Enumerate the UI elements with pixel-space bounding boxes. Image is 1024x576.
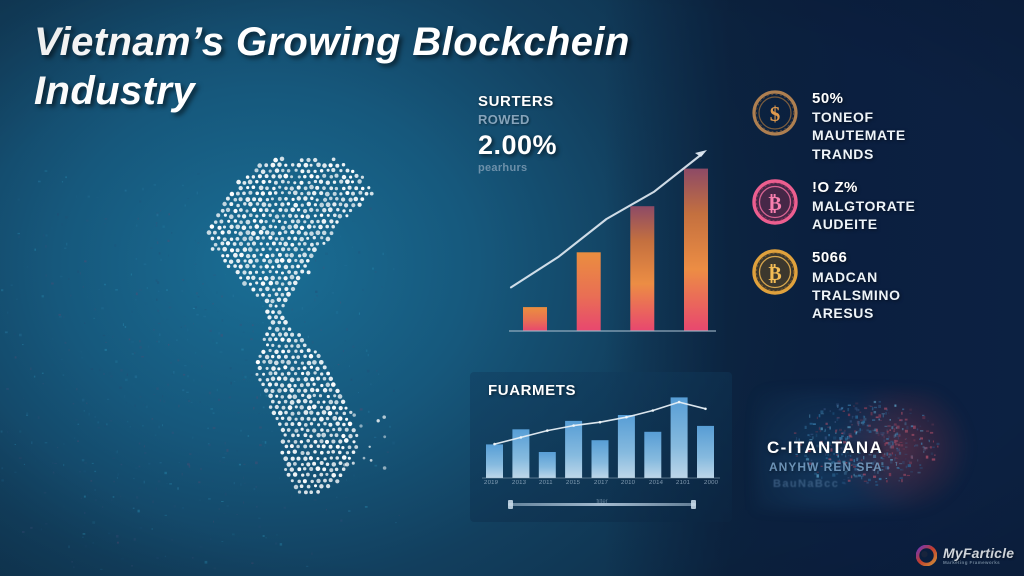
slider-handle-right[interactable]: [691, 500, 696, 509]
svg-text:₿: ₿: [768, 263, 781, 285]
logo-name: MyFarticle: [943, 546, 1014, 560]
stat-label-line: AUDEITE: [812, 215, 915, 233]
stat-text: 50% TONEOF MAUTEMATE TRANDS: [812, 88, 906, 163]
stats-list: $ 50% TONEOF MAUTEMATE TRANDS ₿: [752, 88, 1014, 336]
stat-label-line: MAUTEMATE: [812, 126, 906, 144]
logo-mark-icon: [916, 545, 937, 566]
axis-tick-label: 2015: [566, 480, 581, 486]
logo-text: MyFarticle Marketing Frameworks: [943, 546, 1014, 566]
stat-row: ₿ 5066 MADCAN TRALSMINO ARESUS: [752, 247, 1014, 322]
axis-tick-label: 2011: [539, 480, 553, 486]
bottom-caption-line3: BauNaBcc: [773, 478, 839, 490]
fuarmets-chart: FUARMETS 2019201320112015201720102014210…: [470, 372, 732, 522]
bottom-caption-line1: C-ITANTANA: [767, 438, 883, 458]
stat-value: 5066: [812, 248, 901, 267]
fuarmets-range-slider[interactable]: filter: [508, 500, 696, 509]
infographic-canvas: Vietnam’s Growing Blockchein Industry SU…: [0, 0, 1024, 576]
dollar-coin-icon: $: [752, 90, 798, 136]
stat-row: $ 50% TONEOF MAUTEMATE TRANDS: [752, 88, 1014, 163]
axis-tick-label: 2013: [511, 480, 526, 486]
stat-label-line: MALGTORATE: [812, 197, 915, 215]
slider-label: filter: [596, 499, 607, 505]
stat-label-line: TRANDS: [812, 145, 906, 163]
axis-tick-label: 2000: [704, 480, 719, 486]
bottom-caption-block: C-ITANTANA ANYHW REN SFA BauNaBcc: [755, 400, 1005, 510]
page-title: Vietnam’s Growing Blockchein Industry: [34, 18, 734, 116]
stat-label-line: ARESUS: [812, 304, 901, 322]
center-stat-line2: ROWED: [478, 112, 628, 127]
stat-text: !O Z% MALGTORATE AUDEITE: [812, 177, 915, 234]
axis-tick-label: 2010: [621, 480, 636, 486]
growth-bar-chart: [505, 150, 720, 345]
center-stat-line1: SURTERS: [478, 93, 628, 110]
watermark-logo: MyFarticle Marketing Frameworks: [916, 545, 1014, 566]
stat-text: 5066 MADCAN TRALSMINO ARESUS: [812, 247, 901, 322]
vietnam-dotted-map: [150, 128, 450, 528]
slider-handle-left[interactable]: [508, 500, 513, 509]
bottom-caption-line2: ANYHW REN SFA: [769, 460, 883, 474]
stat-value: !O Z%: [812, 178, 915, 197]
fuarmets-axis-labels: 201920132011201520172010201421012000: [484, 480, 718, 486]
bitcoin-coin-gold-icon: ₿: [752, 249, 798, 295]
bitcoin-coin-pink-icon: ₿: [752, 179, 798, 225]
svg-text:$: $: [770, 102, 781, 126]
axis-tick-label: 2017: [593, 480, 608, 486]
stat-value: 50%: [812, 89, 906, 108]
stat-label-line: MADCAN: [812, 268, 901, 286]
axis-tick-label: 2019: [484, 480, 499, 486]
stat-row: ₿ !O Z% MALGTORATE AUDEITE: [752, 177, 1014, 234]
axis-tick-label: 2014: [649, 480, 664, 486]
logo-subtitle: Marketing Frameworks: [943, 561, 1014, 566]
stat-label-line: TRALSMINO: [812, 286, 901, 304]
stat-label-line: TONEOF: [812, 108, 906, 126]
axis-tick-label: 2101: [676, 480, 691, 486]
svg-text:₿: ₿: [768, 193, 781, 215]
